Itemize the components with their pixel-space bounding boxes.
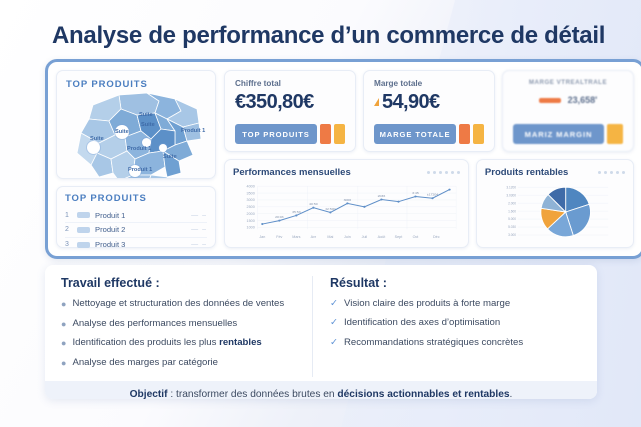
kpi-card-margin[interactable]: Marge totale 54,90€ MARGE TOTALE (363, 70, 495, 152)
list-item: ● Nettoyage et structuration des données… (61, 298, 312, 310)
column-travail-effectue: Travail effectué : ● Nettoyage et struct… (61, 276, 312, 377)
svg-text:3.000: 3.000 (508, 233, 516, 237)
item-text: Nettoyage et structuration des données d… (72, 298, 284, 310)
svg-text:±17204: ±17204 (427, 193, 439, 197)
row-trail: — – (191, 226, 207, 233)
bullet-icon: ● (61, 337, 66, 349)
product-name: Produit 3 (95, 240, 186, 249)
summary-panel: Travail effectué : ● Nettoyage et struct… (45, 265, 597, 399)
map-label: Produit 1 (181, 128, 205, 134)
kpi-value: 23,658' (568, 95, 598, 105)
svg-text:Jan: Jan (259, 235, 265, 239)
kpi-value-wrap: 54,90€ (374, 91, 484, 114)
column-heading: Travail effectué : (61, 276, 312, 290)
svg-text:Juil: Juil (362, 235, 368, 239)
map-pin[interactable] (159, 144, 167, 152)
svg-text:1000: 1000 (247, 226, 255, 230)
svg-text:Juin: Juin (344, 235, 351, 239)
bullet-icon: ● (61, 318, 66, 330)
bullet-icon: ● (61, 357, 66, 369)
line-chart-header: Performances mensuelles (233, 167, 460, 178)
check-icon: ✓ (330, 317, 338, 328)
svg-text:Sept: Sept (395, 235, 403, 239)
pie-chart-header: Produits rentables (485, 167, 625, 178)
svg-text:Mai: Mai (327, 235, 333, 239)
svg-text:35:53: 35:53 (292, 210, 301, 214)
color-swatch (77, 227, 90, 233)
dashboard-preview: TOP PRODUITS (45, 59, 641, 259)
svg-text:2500: 2500 (247, 205, 255, 209)
svg-text:±2:500: ±2:500 (325, 207, 336, 211)
list-card-caption: TOP PRODUITS (65, 193, 207, 204)
item-text: Analyse des marges par catégorie (72, 357, 218, 369)
rank: 3 (65, 241, 72, 248)
objective-banner: Objectif : transformer des données brute… (45, 381, 597, 399)
kpi-card-revenue[interactable]: Chiffre total €350,80€ TOP PRODUITS (224, 70, 356, 152)
map-pin[interactable] (87, 141, 100, 154)
svg-text:2036: 2036 (378, 194, 386, 198)
svg-text:Août: Août (378, 235, 386, 239)
kpi-value: 54,90€ (382, 91, 440, 114)
line-chart-card[interactable]: Performances mensuelles (224, 159, 469, 248)
top-produits-button[interactable]: TOP PRODUITS (235, 124, 317, 144)
svg-text:3500: 3500 (247, 191, 255, 195)
summary-columns: Travail effectué : ● Nettoyage et struct… (45, 265, 597, 381)
map-label: Suite (90, 136, 104, 142)
svg-text:1.600: 1.600 (508, 209, 516, 213)
list-item: ● Identification des produits les plus r… (61, 337, 312, 349)
kpi-footer: MARGE TOTALE (374, 124, 484, 144)
kpi-row: Chiffre total €350,80€ TOP PRODUITS Marg… (224, 70, 634, 152)
kpi-footer: TOP PRODUITS (235, 124, 345, 144)
item-text: Vision claire des produits à forte marge (344, 298, 510, 310)
color-swatch (77, 242, 90, 248)
kpi-value: €350,80€ (235, 91, 345, 114)
check-icon: ✓ (330, 337, 338, 348)
objective-mid: : transformer des données brutes en (168, 389, 338, 399)
svg-text:5.000: 5.000 (508, 217, 516, 221)
objective-strong: décisions actionnables et rentables (337, 389, 509, 399)
kpi-value-wrap: 23,658' (513, 95, 623, 105)
line-chart-title: Performances mensuelles (233, 167, 351, 178)
objective-lead: Objectif (130, 389, 168, 399)
map-label: Suite (115, 129, 129, 135)
list-item: ✓ Identification des axes d’optimisation (330, 317, 581, 329)
map-card[interactable]: TOP PRODUITS (56, 70, 216, 179)
svg-text:1500: 1500 (247, 219, 255, 223)
list-item[interactable]: 2 Produit 2 — – (65, 223, 207, 238)
svg-text:Oct: Oct (413, 235, 419, 239)
page-title: Analyse de performance d’un commerce de … (52, 22, 605, 50)
list-item[interactable]: 1 Produit 1 — – (65, 208, 207, 223)
item-text: Identification des axes d’optimisation (344, 317, 500, 329)
bar-yellow (334, 124, 345, 144)
kpi-label: Marge totale (374, 79, 484, 88)
check-icon: ✓ (330, 298, 338, 309)
map-label: Suite (163, 154, 177, 160)
line-chart-plot: 4000 3500 3000 2500 2000 1500 1000 (233, 181, 460, 243)
kpi-label: MARGE VTREALTRALE (513, 79, 623, 86)
legend-swatch (539, 98, 561, 103)
list-item: ✓ Vision claire des produits à forte mar… (330, 298, 581, 310)
top-products-rows: 1 Produit 1 — – 2 Produit 2 — – 3 (65, 208, 207, 251)
item-text: Analyse des performances mensuelles (72, 318, 237, 330)
rank: 2 (65, 226, 72, 233)
rank: 1 (65, 212, 72, 219)
svg-text:Déc: Déc (433, 235, 440, 239)
svg-text:Avr: Avr (311, 235, 317, 239)
trend-up-icon (374, 98, 379, 106)
bar-yellow (473, 124, 484, 144)
kpi-footer: MARIZ MARGIN (513, 124, 623, 144)
bullet-icon: ● (61, 298, 66, 310)
row-trail: — – (191, 212, 207, 219)
pie-chart-card[interactable]: Produits rentables (476, 159, 634, 248)
list-item: ● Analyse des marges par catégorie (61, 357, 312, 369)
map-label: Suite (141, 122, 155, 128)
dashboard-left-column: TOP PRODUITS (56, 70, 216, 248)
svg-text:2000: 2000 (247, 212, 255, 216)
dashboard-right-column: Chiffre total €350,80€ TOP PRODUITS Marg… (224, 70, 634, 248)
column-resultat: Résultat : ✓ Vision claire des produits … (312, 276, 581, 377)
svg-text:3.0300: 3.0300 (506, 193, 516, 197)
svg-text:3000: 3000 (247, 198, 255, 202)
item-text: Recommandations stratégiques concrètes (344, 337, 523, 349)
svg-text:Fév: Fév (276, 235, 282, 239)
svg-text:40:50: 40:50 (309, 202, 318, 206)
svg-text:2.000: 2.000 (508, 201, 516, 205)
column-heading: Résultat : (330, 276, 581, 290)
list-item: ✓ Recommandations stratégiques concrètes (330, 337, 581, 349)
map-label: Produit 1 (127, 146, 151, 152)
bar-orange (320, 124, 331, 144)
bar-yellow (607, 124, 623, 144)
top-products-list-card[interactable]: TOP PRODUITS 1 Produit 1 — – 2 Produit 2… (56, 186, 216, 248)
svg-text:3:45: 3:45 (412, 191, 419, 195)
bar-orange (459, 124, 470, 144)
item-text: Identification des produits les plus ren… (72, 337, 261, 349)
svg-text:Mars: Mars (292, 235, 300, 239)
svg-text:4000: 4000 (247, 185, 255, 189)
map-label: Suite (139, 112, 153, 118)
row-trail: — – (191, 241, 207, 248)
france-map[interactable]: Suite Suite Suite Suite Produit 1 Produi… (63, 89, 213, 179)
chart-legend-dots (427, 171, 460, 174)
chart-legend-dots (598, 171, 625, 174)
product-name: Produit 2 (95, 225, 186, 234)
svg-text:20:03: 20:03 (275, 215, 284, 219)
svg-text:3000: 3000 (344, 198, 352, 202)
kpi-card-unit-margin[interactable]: MARGE VTREALTRALE 23,658' MARIZ MARGIN (502, 70, 634, 152)
svg-text:5.030: 5.030 (508, 225, 516, 229)
list-item[interactable]: 3 Produit 3 — – (65, 238, 207, 252)
marge-totale-button[interactable]: MARGE TOTALE (374, 124, 456, 144)
objective-end: . (510, 389, 513, 399)
charts-row: Performances mensuelles (224, 159, 634, 248)
pie-chart-plot: 3.1200 3.0300 2.000 1.600 5.000 5.030 3.… (485, 181, 625, 243)
list-item: ● Analyse des performances mensuelles (61, 318, 312, 330)
kpi-label: Chiffre total (235, 79, 345, 88)
map-label: Produit 1 (128, 167, 152, 173)
svg-text:3.1200: 3.1200 (506, 185, 516, 189)
color-swatch (77, 212, 90, 218)
pie-chart-title: Produits rentables (485, 167, 568, 178)
mariz-margin-button[interactable]: MARIZ MARGIN (513, 124, 604, 144)
product-name: Produit 1 (95, 211, 186, 220)
